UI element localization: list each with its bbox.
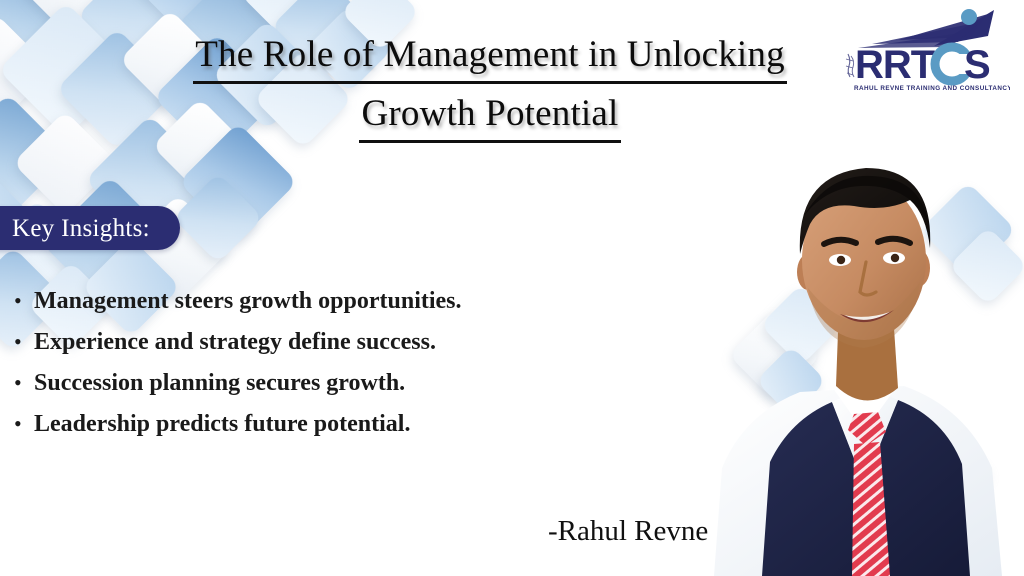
bullet-marker-icon: • xyxy=(14,286,34,316)
decorative-diamond xyxy=(13,111,118,216)
bullet-marker-icon: • xyxy=(14,327,34,357)
decorative-diamond xyxy=(0,94,70,218)
list-item-label: Experience and strategy define success. xyxy=(34,327,436,357)
logo-wordmark-s: S xyxy=(964,43,990,87)
title-line-1: The Role of Management in Unlocking xyxy=(193,30,787,84)
decorative-diamond xyxy=(173,173,264,264)
list-item: •Management steers growth opportunities. xyxy=(14,286,654,316)
speaker-portrait xyxy=(704,96,1024,576)
decorative-diamond xyxy=(0,0,74,70)
title-line-2: Growth Potential xyxy=(359,89,620,143)
decorative-diamond xyxy=(0,13,53,126)
rrtcs-logo: RRT S RAHUL REVNE TRAINING AND CONSULTAN… xyxy=(838,6,1010,94)
list-item: •Leadership predicts future potential. xyxy=(14,409,654,439)
slide-canvas: The Role of Management in Unlocking Grow… xyxy=(0,0,1024,576)
key-insights-badge: Key Insights: xyxy=(0,206,180,250)
list-item: •Experience and strategy define success. xyxy=(14,327,654,357)
key-insights-label: Key Insights: xyxy=(12,216,150,241)
decorative-diamond xyxy=(0,2,134,138)
key-insights-list: •Management steers growth opportunities.… xyxy=(14,286,654,450)
bullet-marker-icon: • xyxy=(14,409,34,439)
logo-wordmark-rrt: RRT xyxy=(855,43,935,87)
attribution-text: -Rahul Revne xyxy=(548,516,708,548)
page-title: The Role of Management in Unlocking Grow… xyxy=(150,30,830,143)
list-item: •Succession planning secures growth. xyxy=(14,368,654,398)
signature-mark xyxy=(846,54,854,77)
bullet-marker-icon: • xyxy=(14,368,34,398)
list-item-label: Management steers growth opportunities. xyxy=(34,286,462,316)
list-item-label: Succession planning secures growth. xyxy=(34,368,405,398)
logo-tagline: RAHUL REVNE TRAINING AND CONSULTANCY SER… xyxy=(854,85,1010,92)
list-item-label: Leadership predicts future potential. xyxy=(34,409,410,439)
decorative-diamond xyxy=(20,0,130,42)
